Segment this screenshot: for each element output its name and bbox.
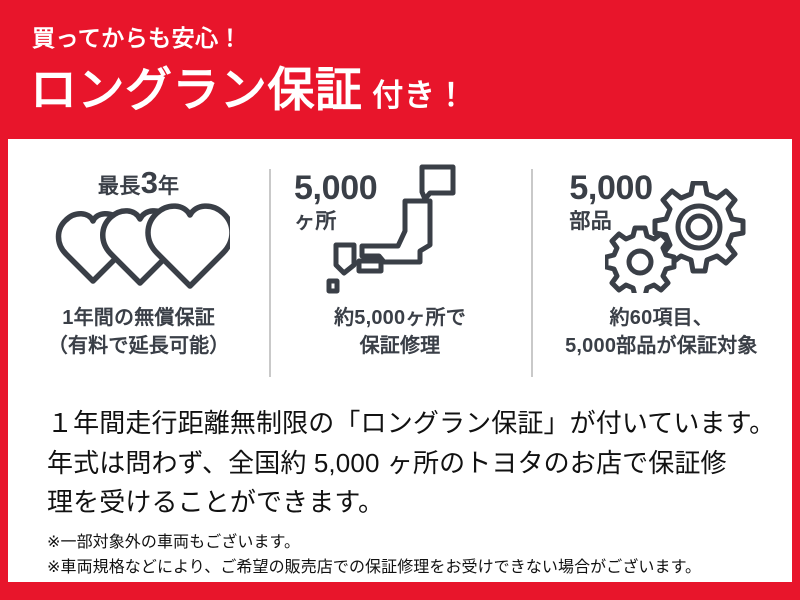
- stat-unit: 部品: [569, 211, 652, 232]
- body-line-3: 理を受けることができます。: [47, 483, 767, 523]
- poster-header: 買ってからも安心！ ロングラン保証付き！: [0, 0, 800, 139]
- stat-covered-parts: 5,000 部品: [569, 171, 652, 232]
- feature-warranty-period: 最長3年 1年間の無償保証 （有料で延長可能）: [8, 153, 269, 393]
- body-copy: １年間走行距離無制限の「ロングラン保証」が付いています。 年式は問わず、全国約 …: [47, 404, 767, 523]
- stat-number: 3: [141, 165, 158, 200]
- stat-number: 5,000: [569, 171, 652, 205]
- feature-visual-service-locations: 5,000 ヶ所: [282, 153, 518, 301]
- content-card: 最長3年 1年間の無償保証 （有料で延長可能）: [8, 139, 792, 582]
- feature-service-locations: 5,000 ヶ所 約5,000ヶ所で 保証修理: [269, 153, 530, 393]
- three-hearts-icon: [48, 203, 230, 294]
- stat-prefix: 最長: [98, 175, 141, 198]
- caption-line-1: 約5,000ヶ所で: [334, 307, 466, 329]
- stat-unit: ヶ所: [294, 211, 377, 232]
- caption-line-2: （有料で延長可能）: [48, 335, 230, 357]
- header-kicker: 買ってからも安心！: [32, 27, 242, 50]
- caption-line-1: 1年間の無償保証: [62, 307, 215, 329]
- feature-visual-covered-parts: 5,000 部品: [543, 153, 779, 301]
- header-title-suffix: 付き！: [372, 78, 467, 113]
- feature-columns: 最長3年 1年間の無償保証 （有料で延長可能）: [8, 153, 792, 393]
- body-line-1: １年間走行距離無制限の「ロングラン保証」が付いています。: [47, 404, 767, 444]
- disclaimer-note-1: ※一部対象外の車両もございます。: [47, 531, 777, 556]
- stat-suffix: 年: [158, 175, 179, 198]
- feature-covered-parts: 5,000 部品 約60項目、 5,000部品が保証対象: [531, 153, 792, 393]
- body-line-2: 年式は問わず、全国約 5,000 ヶ所のトヨタのお店で保証修: [47, 444, 767, 484]
- stat-number: 5,000: [294, 171, 377, 205]
- feature-caption-covered-parts: 約60項目、 5,000部品が保証対象: [565, 305, 757, 360]
- feature-visual-warranty-period: 最長3年: [21, 153, 257, 301]
- feature-caption-warranty-period: 1年間の無償保証 （有料で延長可能）: [48, 305, 230, 360]
- header-title: ロングラン保証付き！: [30, 66, 467, 113]
- caption-line-2: 保証修理: [360, 335, 441, 357]
- disclaimer-note-2: ※車両規格などにより、ご希望の販売店での保証修理をお受けできない場合がございます…: [47, 556, 777, 581]
- caption-line-1: 約60項目、: [610, 307, 713, 329]
- disclaimer-notes: ※一部対象外の車両もございます。 ※車両規格などにより、ご希望の販売店での保証修…: [47, 531, 777, 581]
- header-title-main: ロングラン保証: [30, 63, 362, 116]
- stat-warranty-period: 最長3年: [98, 167, 180, 198]
- warranty-poster: 買ってからも安心！ ロングラン保証付き！ 最長3年: [0, 0, 800, 600]
- stat-service-locations: 5,000 ヶ所: [294, 171, 377, 232]
- gear-small: [606, 228, 674, 293]
- caption-line-2: 5,000部品が保証対象: [565, 335, 757, 357]
- feature-caption-service-locations: 約5,000ヶ所で 保証修理: [334, 305, 466, 360]
